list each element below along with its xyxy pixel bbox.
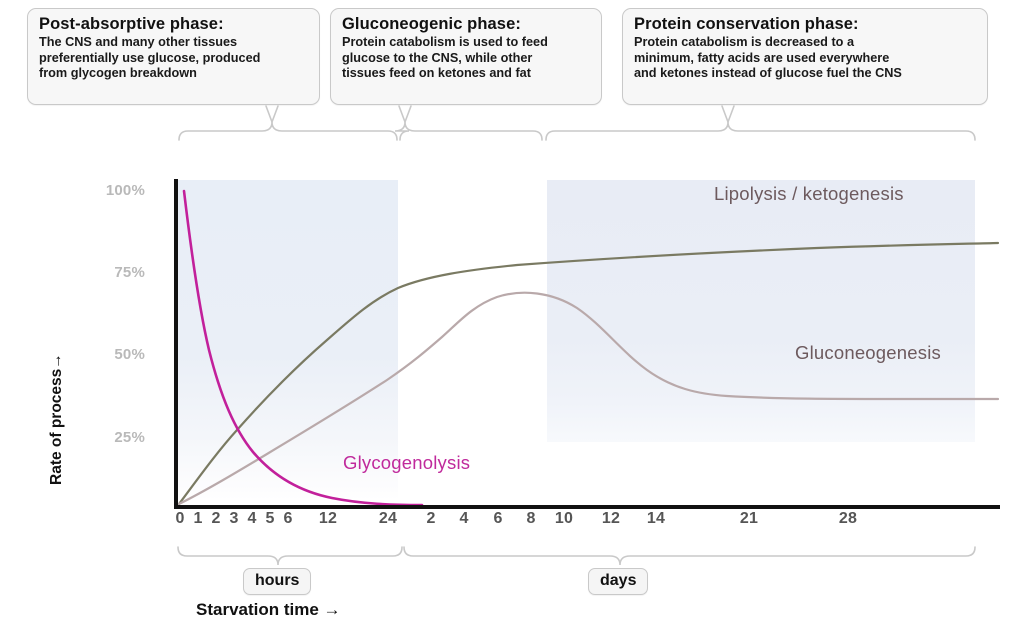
series-label-gluconeogenesis: Gluconeogenesis [795,342,941,364]
phase-body-line: preferentially use glucose, produced [39,51,310,67]
x-tick-6: 6 [280,510,296,528]
y-axis-line [174,179,178,506]
brace-protein-conservation [546,122,975,140]
x-tick-21d: 21 [737,510,761,528]
time-unit-days: days [588,568,648,595]
phase-body: The CNS and many other tissues preferent… [39,35,310,82]
brace-post-absorptive [179,122,397,140]
x-tick-2: 2 [208,510,224,528]
brace-stem-3 [722,106,734,122]
x-tick-3: 3 [226,510,242,528]
x-tick-12d: 12 [599,510,623,528]
x-tick-4: 4 [244,510,260,528]
phase-title: Protein conservation phase: [634,15,978,34]
x-tick-24h: 24 [376,510,400,528]
brace-hours [178,547,402,565]
brace-gluconeogenic [395,122,542,140]
x-tick-12h: 12 [316,510,340,528]
x-tick-6d: 6 [490,510,506,528]
brace-stem-1 [266,106,278,122]
x-tick-14d: 14 [644,510,668,528]
phase-box-protein-conservation: Protein conservation phase: Protein cata… [622,8,988,105]
x-tick-8d: 8 [523,510,539,528]
y-tick-25: 25% [85,429,145,446]
phase-body: Protein catabolism is used to feed gluco… [342,35,592,82]
brace-days [404,547,975,565]
y-tick-100: 100% [85,182,145,199]
phase-title: Post-absorptive phase: [39,15,310,34]
brace-stem-2 [399,106,411,122]
phase-body-line: from glycogen breakdown [39,66,310,82]
x-axis-title: Starvation time → [196,600,341,620]
x-tick-5: 5 [262,510,278,528]
time-unit-hours: hours [243,568,311,595]
curve-lipolysis [179,243,998,504]
x-tick-10d: 10 [552,510,576,528]
phase-body-line: tissues feed on ketones and fat [342,66,592,82]
y-tick-50: 50% [85,346,145,363]
phase-body: Protein catabolism is decreased to a min… [634,35,978,82]
x-tick-2d: 2 [423,510,439,528]
x-tick-0: 0 [172,510,188,528]
x-axis-line [174,505,1000,509]
phase-body-line: Protein catabolism is decreased to a [634,35,978,51]
phase-body-line: Protein catabolism is used to feed [342,35,592,51]
phase-box-gluconeogenic: Gluconeogenic phase: Protein catabolism … [330,8,602,105]
x-tick-1: 1 [190,510,206,528]
series-label-glycogenolysis: Glycogenolysis [343,452,470,474]
phase-title: Gluconeogenic phase: [342,15,592,34]
x-tick-28d: 28 [836,510,860,528]
x-tick-4d: 4 [456,510,472,528]
curve-gluconeogenesis [179,293,998,504]
phase-body-line: and ketones instead of glucose fuel the … [634,66,978,82]
y-tick-75: 75% [85,264,145,281]
phase-body-line: The CNS and many other tissues [39,35,310,51]
series-label-lipolysis: Lipolysis / ketogenesis [714,183,904,205]
phase-box-post-absorptive: Post-absorptive phase: The CNS and many … [27,8,320,105]
phase-body-line: glucose to the CNS, while other [342,51,592,67]
figure-root: Post-absorptive phase: The CNS and many … [0,0,1018,628]
y-axis-title: Rate of process→ [48,353,66,485]
phase-body-line: minimum, fatty acids are used everywhere [634,51,978,67]
